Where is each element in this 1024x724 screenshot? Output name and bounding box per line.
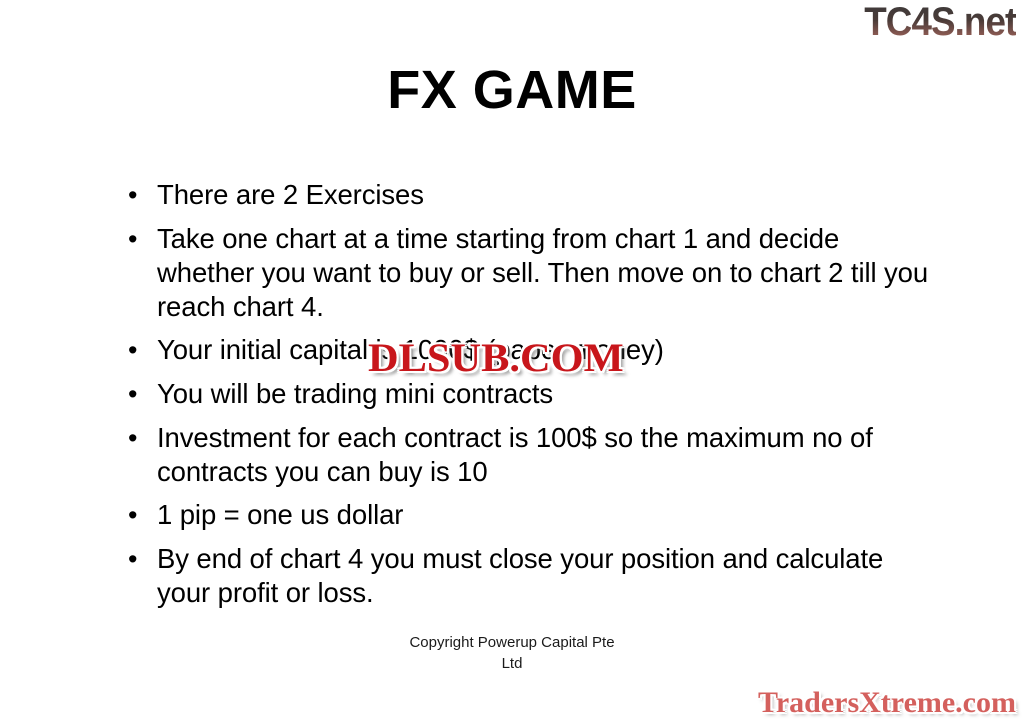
bullet-icon: •	[122, 421, 157, 456]
list-item-text: 1 pip = one us dollar	[157, 498, 942, 532]
copyright-line-1: Copyright Powerup Capital Pte	[0, 632, 1024, 653]
list-item: • By end of chart 4 you must close your …	[122, 542, 942, 610]
bullet-icon: •	[122, 542, 157, 577]
bullet-icon: •	[122, 222, 157, 257]
list-item: • Investment for each contract is 100$ s…	[122, 421, 942, 489]
watermark-tc4s: TC4S.net	[864, 0, 1016, 45]
slide-canvas: FX GAME • There are 2 Exercises • Take o…	[0, 0, 1024, 724]
bullet-icon: •	[122, 178, 157, 213]
copyright-line-2: Ltd	[0, 653, 1024, 674]
list-item: • You will be trading mini contracts	[122, 377, 942, 412]
list-item-text: Take one chart at a time starting from c…	[157, 222, 942, 324]
list-item: • There are 2 Exercises	[122, 178, 942, 213]
list-item-text: You will be trading mini contracts	[157, 377, 942, 411]
bullet-icon: •	[122, 333, 157, 368]
list-item: • Take one chart at a time starting from…	[122, 222, 942, 324]
list-item-text: Investment for each contract is 100$ so …	[157, 421, 942, 489]
bullet-icon: •	[122, 498, 157, 533]
list-item-text: There are 2 Exercises	[157, 178, 942, 212]
list-item: • 1 pip = one us dollar	[122, 498, 942, 533]
bullet-icon: •	[122, 377, 157, 412]
slide-footer: Copyright Powerup Capital Pte Ltd	[0, 632, 1024, 674]
list-item-text: By end of chart 4 you must close your po…	[157, 542, 942, 610]
watermark-tradersxtreme: TradersXtreme.com	[758, 686, 1016, 720]
watermark-dlsub: DLSUB.COM	[368, 334, 624, 381]
page-title: FX GAME	[0, 62, 1024, 119]
bullet-list: • There are 2 Exercises • Take one chart…	[122, 178, 942, 619]
